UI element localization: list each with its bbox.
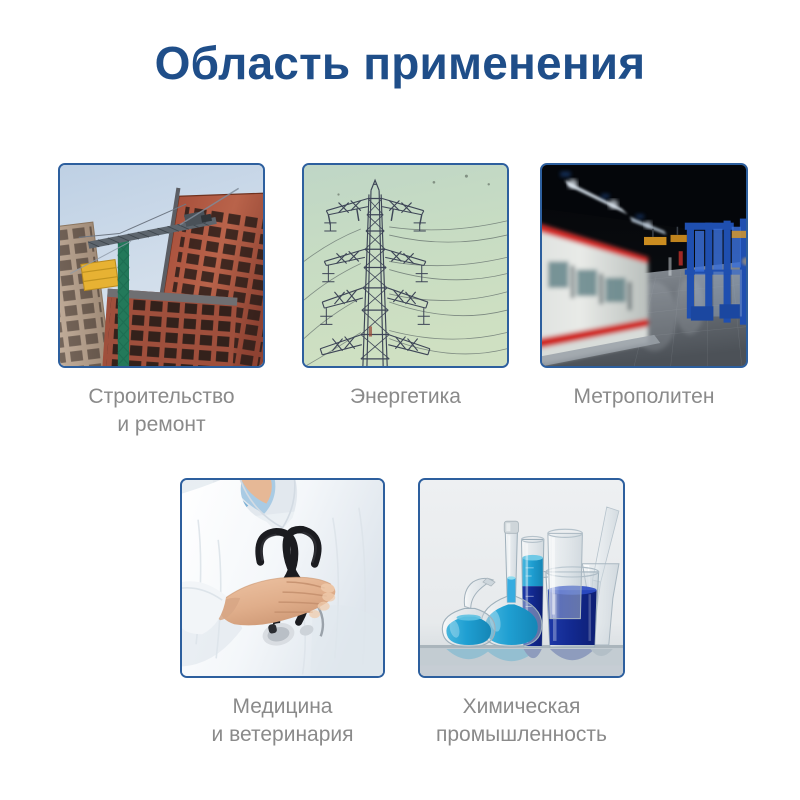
page-title: Область применения <box>0 38 800 89</box>
construction-site-photo <box>60 165 263 366</box>
card-construction[interactable] <box>58 163 265 368</box>
metro-station-photo <box>542 165 746 366</box>
caption-metro: Метрополитен <box>520 383 768 411</box>
caption-construction: Строительство и ремонт <box>38 383 285 440</box>
doctor-stethoscope-photo <box>182 480 383 676</box>
application-scope-slide: Область применения <box>0 0 800 800</box>
caption-chemistry: Химическая промышленность <box>396 693 647 750</box>
card-medicine[interactable] <box>180 478 385 678</box>
laboratory-glassware-photo <box>420 480 623 676</box>
caption-medicine: Медицина и ветеринария <box>164 693 401 750</box>
card-metro[interactable] <box>540 163 748 368</box>
power-transmission-tower-photo <box>304 165 507 366</box>
card-energy[interactable] <box>302 163 509 368</box>
caption-energy: Энергетика <box>282 383 529 411</box>
card-chemistry[interactable] <box>418 478 625 678</box>
